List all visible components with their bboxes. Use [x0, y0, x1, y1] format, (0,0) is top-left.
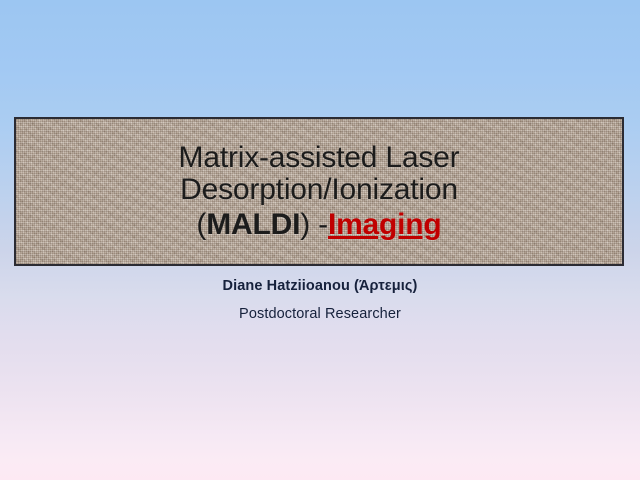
title-textbox[interactable]: Matrix-assisted Laser Desorption/Ionizat…: [14, 117, 624, 266]
maldi-close-paren: ): [300, 208, 310, 241]
maldi-acronym: MALDI: [206, 208, 300, 241]
imaging-highlight-text: Imaging: [328, 208, 442, 241]
title-text-group: Matrix-assisted Laser Desorption/Ionizat…: [179, 142, 460, 242]
title-line-1: Matrix-assisted Laser: [179, 142, 460, 175]
title-line-2: Desorption/Ionization: [179, 174, 460, 207]
title-dash: -: [310, 208, 328, 241]
subtitle-textbox[interactable]: Diane Hatziioanou (Άρτεμις) Postdoctoral…: [0, 276, 640, 326]
author-role: Postdoctoral Researcher: [0, 303, 640, 326]
presentation-slide: Matrix-assisted Laser Desorption/Ionizat…: [0, 0, 640, 480]
title-line-3: (MALDI) -Imaging: [179, 207, 460, 242]
author-name: Diane Hatziioanou (Άρτεμις): [0, 276, 640, 298]
maldi-open-paren: (: [196, 208, 206, 241]
